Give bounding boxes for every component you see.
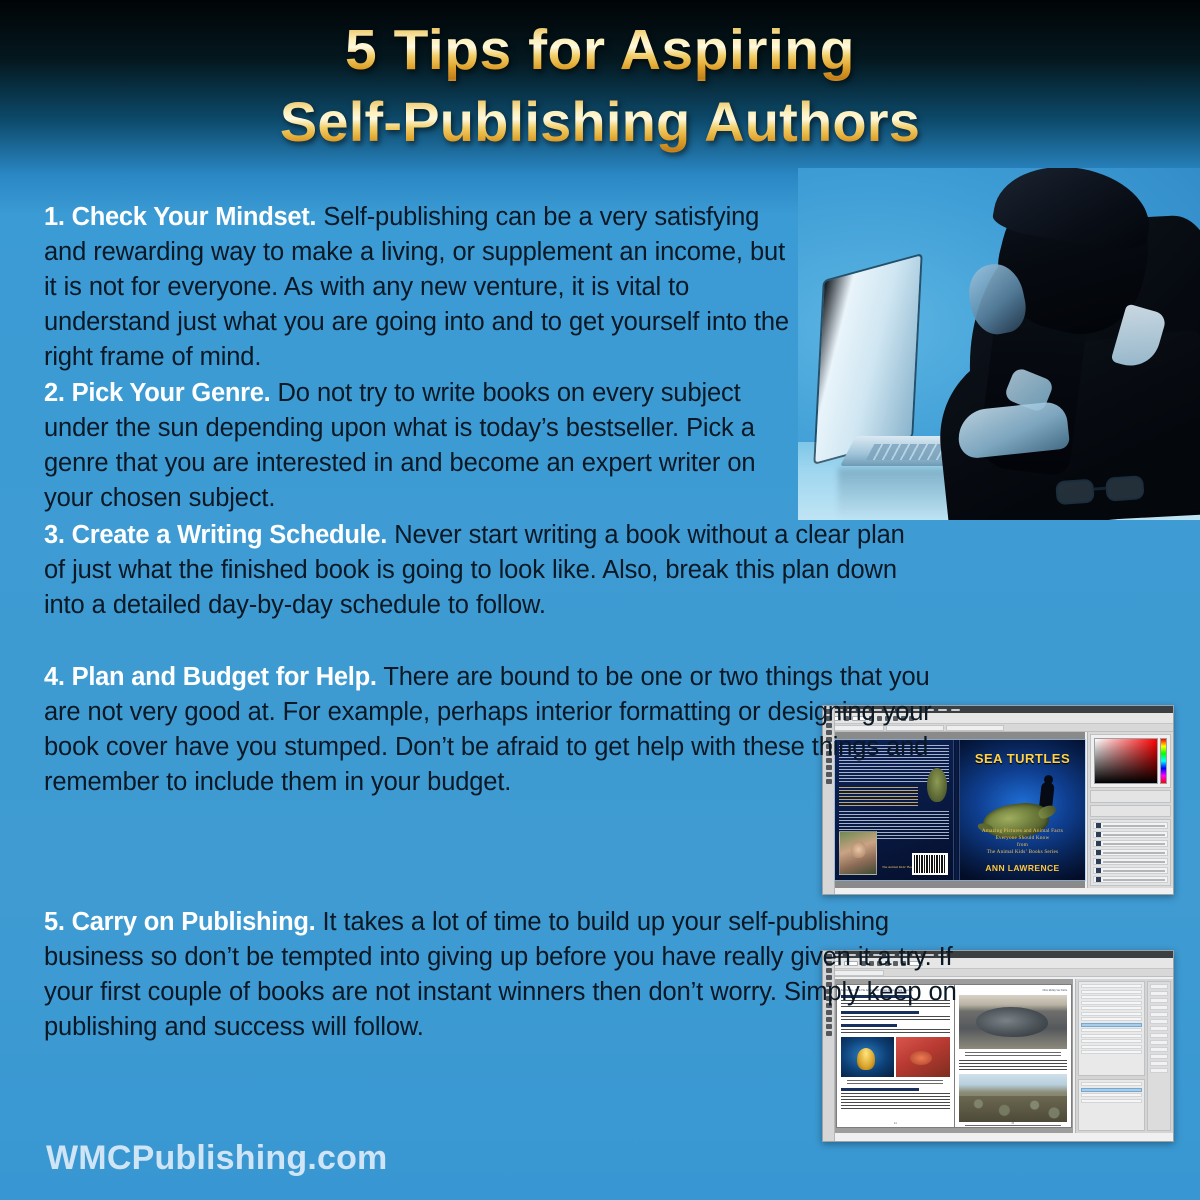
photo-caption [847, 1080, 943, 1084]
infographic-canvas: 5 Tips for Aspiring Self-Publishing Auth… [0, 0, 1200, 1200]
tip-5-heading: 5. Carry on Publishing. [44, 908, 315, 936]
style-row[interactable] [1081, 1001, 1142, 1005]
laptop-screen [815, 256, 920, 463]
style-row[interactable] [1081, 984, 1142, 988]
tip-2-text: 2. Pick Your Genre. Do not try to write … [44, 376, 796, 516]
photo-caption [965, 1052, 1061, 1056]
page-title-line-2: Self-Publishing Authors [0, 86, 1200, 158]
style-row[interactable] [1081, 1099, 1142, 1103]
tip-4-heading: 4. Plan and Budget for Help. [44, 663, 377, 691]
tip-2-heading: 2. Pick Your Genre. [44, 379, 270, 407]
book-subtitle-line-3: from [960, 842, 1085, 849]
tip-item-3: 3. Create a Writing Schedule. Never star… [44, 518, 924, 623]
swatches-panel-icon[interactable] [1150, 1005, 1168, 1010]
style-row[interactable] [1081, 1028, 1142, 1032]
collapsed-panel-dock [1147, 981, 1171, 1131]
saturation-value-field[interactable] [1094, 738, 1158, 784]
style-row-selected[interactable] [1081, 1088, 1142, 1092]
right-page-folio: 25 [955, 1122, 1072, 1125]
layer-row[interactable] [1093, 831, 1168, 838]
tip-3-heading: 3. Create a Writing Schedule. [44, 521, 387, 549]
tip-item-5: 5. Carry on Publishing. It takes a lot o… [44, 905, 974, 1045]
style-row[interactable] [1081, 995, 1142, 999]
layer-row[interactable] [1093, 867, 1168, 874]
style-row[interactable] [1081, 1082, 1142, 1086]
style-row-selected[interactable] [1081, 1023, 1142, 1027]
properties-panel[interactable] [1090, 805, 1171, 817]
isbn-barcode [912, 853, 948, 875]
book-subtitle-line-4: The Animal Kids’ Books Series [960, 849, 1085, 856]
footer: WMCPublishing.com [46, 1139, 388, 1178]
photo-man-at-laptop [798, 168, 1200, 520]
book-subtitle-line-1: Amazing Pictures and Animal Facts [960, 828, 1085, 835]
tip-item-4: 4. Plan and Budget for Help. There are b… [44, 660, 964, 800]
book-front-cover: SEA TURTLES Amazing Pictures and Animal … [960, 740, 1085, 880]
stroke-panel-icon[interactable] [1150, 1012, 1168, 1017]
layer-row[interactable] [1093, 822, 1168, 829]
editor-right-panels [1087, 732, 1173, 888]
text-wrap-panel-icon[interactable] [1150, 1033, 1168, 1038]
pages-panel-icon[interactable] [1150, 984, 1168, 989]
style-row[interactable] [1081, 1050, 1142, 1054]
layer-row[interactable] [1093, 840, 1168, 847]
style-row[interactable] [1081, 1039, 1142, 1043]
style-row[interactable] [1081, 990, 1142, 994]
tip-item-1: 1. Check Your Mindset. Self-publishing c… [44, 200, 804, 375]
nesting-turtles-photo [959, 1074, 1068, 1122]
left-page-folio: 24 [837, 1122, 954, 1125]
brand-url[interactable]: WMCPublishing.com [46, 1139, 388, 1178]
section-heading [841, 1088, 919, 1091]
character-styles-panel[interactable] [1078, 1079, 1145, 1131]
style-row[interactable] [1081, 1093, 1142, 1097]
body-copy [959, 1060, 1068, 1071]
layers-panel[interactable] [1090, 819, 1171, 886]
right-page-running-head: Olive Ridley Sea Turtle [959, 989, 1068, 992]
tip-3-text: 3. Create a Writing Schedule. Never star… [44, 518, 924, 623]
style-row[interactable] [1081, 1017, 1142, 1021]
effects-panel-icon[interactable] [1150, 1019, 1168, 1024]
book-author: ANN LAWRENCE [960, 863, 1085, 873]
tip-1-text: 1. Check Your Mindset. Self-publishing c… [44, 200, 804, 375]
adjustments-panel[interactable] [1090, 790, 1171, 802]
photo-caption [965, 1125, 1061, 1127]
color-picker-panel[interactable] [1090, 734, 1171, 788]
author-photo [839, 831, 877, 875]
page-header: 5 Tips for Aspiring Self-Publishing Auth… [0, 14, 1200, 158]
body-copy [841, 1093, 950, 1110]
style-row[interactable] [1081, 1045, 1142, 1049]
book-title: SEA TURTLES [960, 751, 1085, 766]
layers-panel-icon[interactable] [1150, 998, 1168, 1003]
color-panel-icon[interactable] [1150, 1061, 1168, 1066]
style-row[interactable] [1081, 1006, 1142, 1010]
layer-row[interactable] [1093, 876, 1168, 883]
links-panel-icon[interactable] [1150, 991, 1168, 996]
tip-5-text: 5. Carry on Publishing. It takes a lot o… [44, 905, 974, 1045]
style-row[interactable] [1081, 1012, 1142, 1016]
sea-turtle-photo [959, 995, 1068, 1049]
panel-column [1078, 981, 1145, 1131]
paragraph-styles-panel[interactable] [1078, 981, 1145, 1076]
layer-row[interactable] [1093, 858, 1168, 865]
book-subtitle: Amazing Pictures and Animal Facts Everyo… [960, 828, 1085, 856]
style-row[interactable] [1081, 1034, 1142, 1038]
layer-row[interactable] [1093, 849, 1168, 856]
tip-1-heading: 1. Check Your Mindset. [44, 203, 316, 231]
align-panel-icon[interactable] [1150, 1026, 1168, 1031]
glyphs-panel-icon[interactable] [1150, 1040, 1168, 1045]
hue-slider[interactable] [1160, 738, 1167, 784]
cell-styles-panel-icon[interactable] [1150, 1068, 1168, 1073]
tip-item-2: 2. Pick Your Genre. Do not try to write … [44, 376, 796, 516]
layout-right-panels [1075, 979, 1173, 1133]
tip-4-text: 4. Plan and Budget for Help. There are b… [44, 660, 964, 800]
info-panel-icon[interactable] [1150, 1054, 1168, 1059]
page-title-line-1: 5 Tips for Aspiring [0, 14, 1200, 86]
hyperlinks-panel-icon[interactable] [1150, 1047, 1168, 1052]
